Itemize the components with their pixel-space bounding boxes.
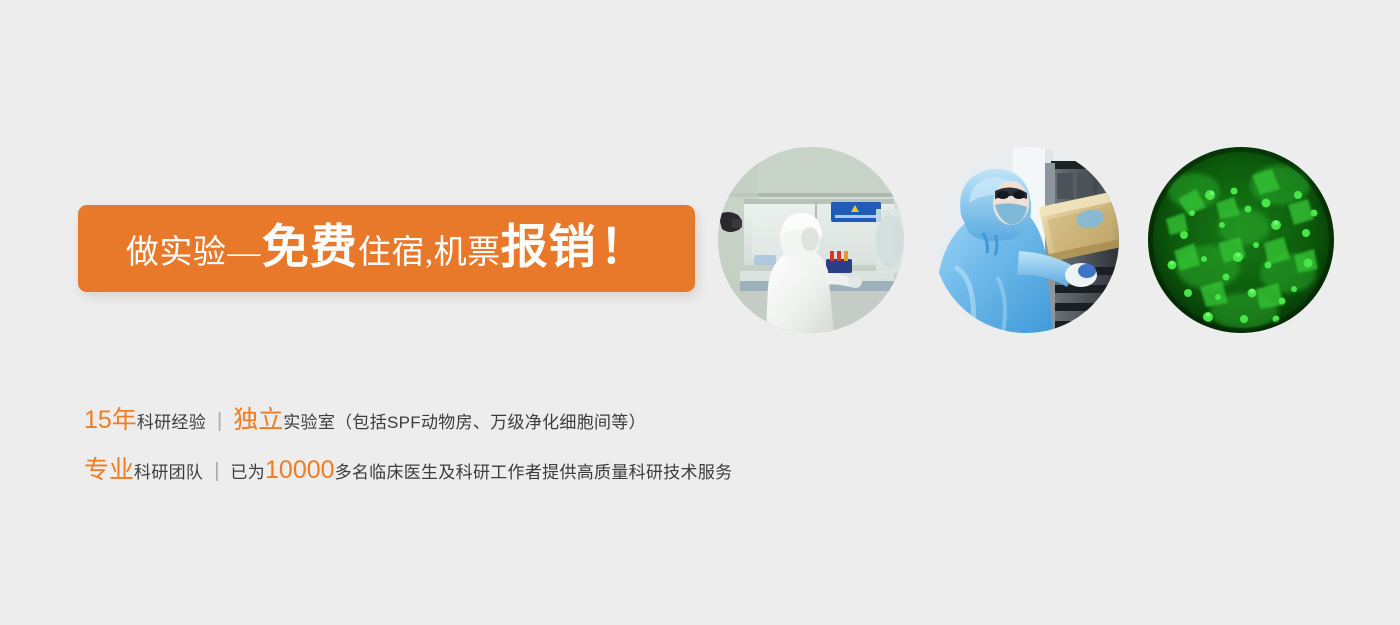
feature-line-experience: 15年科研经验|独立实验室（包括SPF动物房、万级净化细胞间等） [84, 400, 884, 434]
feature-line-team: 专业科研团队|已为10000多名临床医生及科研工作者提供高质量科研技术服务 [84, 450, 884, 484]
gfp-fluorescence-cells-photo [1148, 147, 1334, 333]
photo-strip [718, 147, 1334, 333]
cleanroom-biosafety-cabinet-photo [718, 147, 904, 333]
headline-text: 做实验—免费住宿,机票报销！ [126, 225, 647, 272]
headline-part-reimburse: 报销 [501, 225, 597, 272]
feature-2-professional: 专业 [84, 450, 134, 486]
feature-1-experience: 科研经验 [137, 408, 206, 433]
headline-comma: , [425, 237, 434, 270]
feature-1-separator: | [206, 410, 233, 433]
feature-1-independent: 独立 [233, 400, 283, 436]
feature-1-lab-detail: 实验室（包括SPF动物房、万级净化细胞间等） [283, 408, 646, 433]
feature-2-count: 10000 [265, 456, 335, 485]
headline-part-free: 免费 [262, 225, 358, 272]
feature-2-served-suffix: 多名临床医生及科研工作者提供高质量科研技术服务 [335, 458, 733, 483]
headline-part-1: 做实验 [126, 237, 227, 270]
promo-banner: 做实验—免费住宿,机票报销！ [0, 0, 1400, 625]
headline-plaque[interactable]: 做实验—免费住宿,机票报销！ [78, 205, 695, 292]
feature-2-served-prefix: 已为 [230, 458, 265, 483]
feature-1-years: 15年 [84, 400, 137, 436]
spf-animal-facility-photo [933, 147, 1119, 333]
headline-part-airfare: 机票 [434, 237, 501, 270]
headline-dash: — [226, 237, 262, 270]
headline-part-lodging: 住宿 [358, 237, 425, 270]
feature-2-team: 科研团队 [134, 458, 203, 483]
headline-exclamation: ！ [597, 225, 648, 272]
feature-2-separator: | [203, 460, 230, 483]
feature-list: 15年科研经验|独立实验室（包括SPF动物房、万级净化细胞间等） 专业科研团队|… [84, 400, 884, 500]
